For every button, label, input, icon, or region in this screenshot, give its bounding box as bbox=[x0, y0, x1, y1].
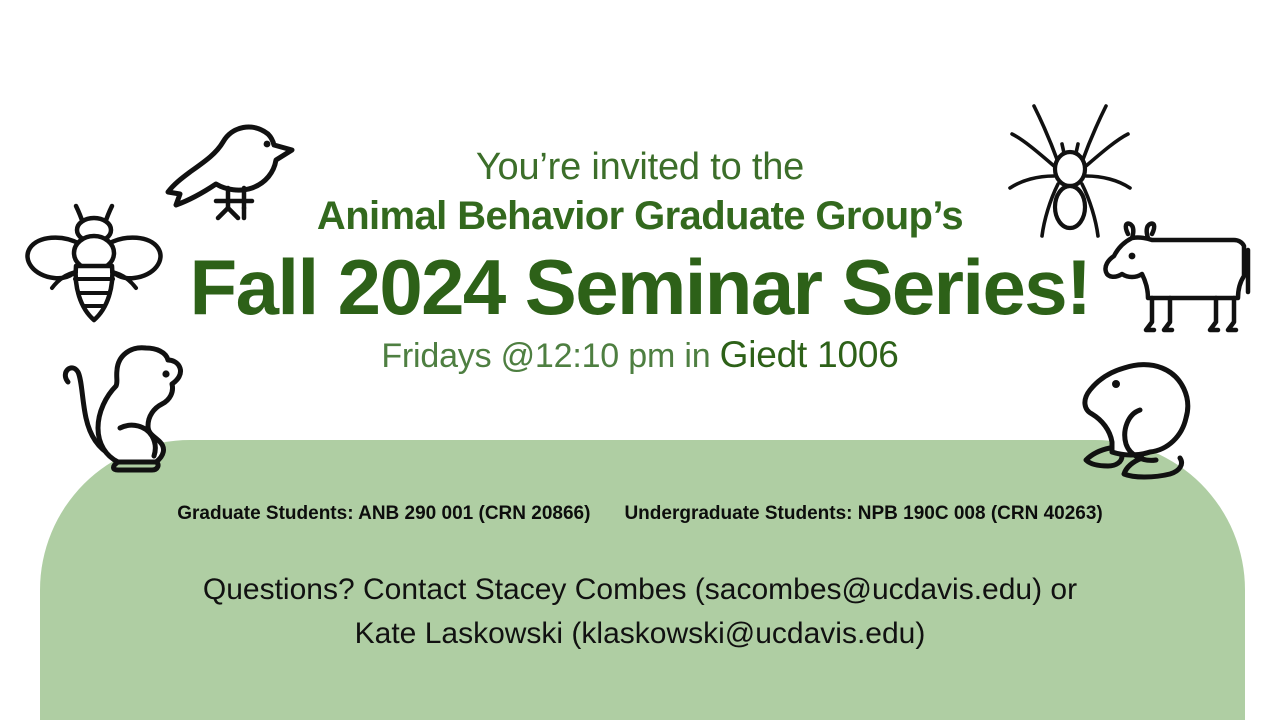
poster-canvas: You’re invited to the Animal Behavior Gr… bbox=[0, 0, 1280, 720]
monkey-icon bbox=[56, 330, 206, 472]
cow-icon bbox=[1096, 216, 1266, 342]
contact-line-2: Kate Laskowski (klaskowski@ucdavis.edu) bbox=[0, 612, 1280, 656]
schedule-prefix: Fridays @12:10 pm in bbox=[381, 337, 719, 375]
course-info-row: Graduate Students: ANB 290 001 (CRN 2086… bbox=[0, 503, 1280, 525]
frog-icon bbox=[1076, 350, 1226, 482]
contact-block: Questions? Contact Stacey Combes (sacomb… bbox=[0, 568, 1280, 656]
room-label: Giedt 1006 bbox=[720, 334, 899, 375]
graduate-course-label: Graduate Students: ANB 290 001 (CRN 2086… bbox=[177, 503, 590, 524]
undergraduate-course-label: Undergraduate Students: NPB 190C 008 (CR… bbox=[624, 503, 1102, 524]
bee-icon bbox=[18, 196, 170, 326]
bird-icon bbox=[160, 104, 310, 224]
contact-line-1: Questions? Contact Stacey Combes (sacomb… bbox=[0, 568, 1280, 612]
page-title: Fall 2024 Seminar Series! bbox=[0, 248, 1280, 326]
